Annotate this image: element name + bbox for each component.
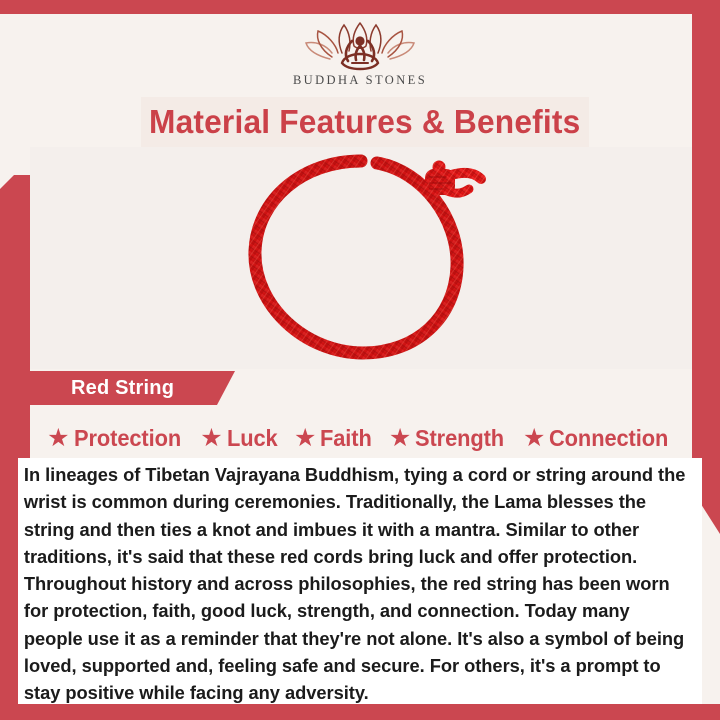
lotus-meditation-icon <box>304 19 416 71</box>
product-image <box>30 147 692 369</box>
benefit-label: Strength <box>415 425 504 452</box>
star-icon: ★ <box>389 426 411 451</box>
red-string-braided-bracelet-icon <box>211 147 511 369</box>
section-tab-red-string: Red String <box>30 371 235 405</box>
benefit-label: Faith <box>320 425 372 452</box>
description-panel: In lineages of Tibetan Vajrayana Buddhis… <box>18 458 702 704</box>
benefit-item-strength: ★ Strength <box>389 425 509 452</box>
benefit-label: Protection <box>74 425 181 452</box>
benefits-list: ★ Protection ★ Luck ★ Faith ★ Strength ★… <box>30 420 692 456</box>
infographic-page: BUDDHA STONES Material Features & Benefi… <box>0 0 720 720</box>
benefit-label: Connection <box>549 425 668 452</box>
top-border-bar <box>0 0 720 14</box>
benefit-item-connection: ★ Connection <box>523 425 675 452</box>
section-tab-label: Red String <box>30 377 174 400</box>
brand-name: BUDDHA STONES <box>293 73 427 88</box>
page-title: Material Features & Benefits <box>149 103 580 141</box>
star-icon: ★ <box>47 426 69 451</box>
benefit-item-luck: ★ Luck <box>200 425 280 452</box>
benefit-label: Luck <box>227 425 278 452</box>
benefit-item-protection: ★ Protection <box>47 425 186 452</box>
brand-logo: BUDDHA STONES <box>0 14 720 96</box>
description-text: In lineages of Tibetan Vajrayana Buddhis… <box>18 458 692 707</box>
star-icon: ★ <box>294 426 316 451</box>
benefit-item-faith: ★ Faith <box>294 425 375 452</box>
star-icon: ★ <box>200 426 222 451</box>
star-icon: ★ <box>523 426 545 451</box>
title-banner: Material Features & Benefits <box>141 97 589 147</box>
